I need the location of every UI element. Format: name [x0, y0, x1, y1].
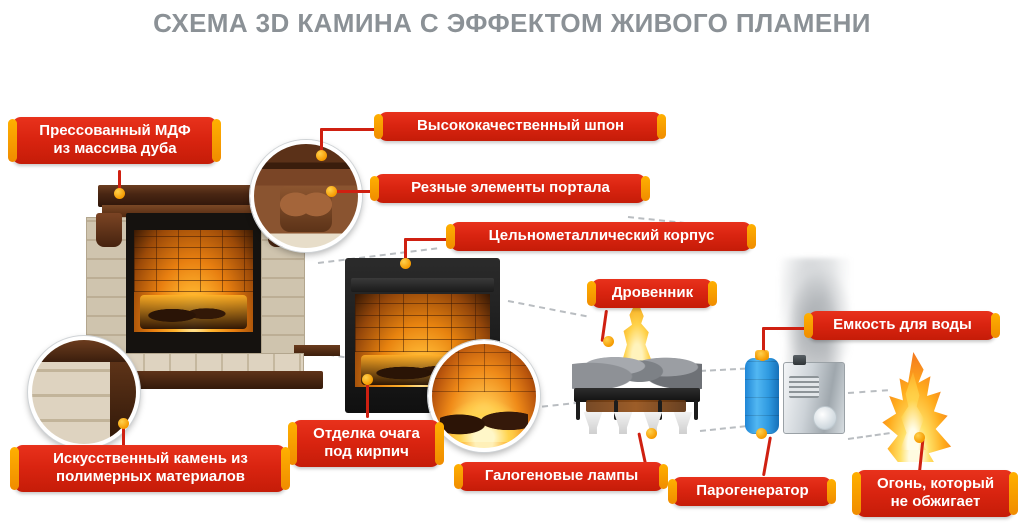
- connector-dot: [114, 188, 125, 199]
- connector-brick: [366, 380, 369, 418]
- label-stone[interactable]: Искусственный камень из полимерных матер…: [14, 445, 286, 492]
- connector-dot: [603, 336, 614, 347]
- generator-badge: [813, 406, 837, 430]
- dashed-guide: [848, 432, 890, 440]
- connector-dot: [362, 374, 373, 385]
- callout-brick-flame: [428, 340, 540, 452]
- label-log-holder[interactable]: Дровенник: [591, 279, 713, 308]
- generator-grill: [789, 376, 819, 398]
- water-tank: [745, 358, 779, 434]
- log-basket: [572, 300, 702, 435]
- connector-dot: [326, 186, 337, 197]
- connector-veneer: [320, 128, 380, 131]
- label-water-tank[interactable]: Емкость для воды: [808, 311, 996, 340]
- connector-steamgen: [762, 436, 772, 476]
- steam-generator: [783, 362, 845, 434]
- label-cold-fire[interactable]: Огонь, который не обжигает: [856, 470, 1014, 517]
- connector-halogen: [637, 432, 647, 464]
- label-brick-finish[interactable]: Отделка очага под кирпич: [292, 420, 440, 467]
- firebox-glass: [134, 230, 253, 332]
- infographic-canvas: СХЕМА 3D КАМИНА С ЭФФЕКТОМ ЖИВОГО ПЛАМЕН…: [0, 0, 1024, 532]
- connector-dot: [757, 350, 768, 361]
- page-title: СХЕМА 3D КАМИНА С ЭФФЕКТОМ ЖИВОГО ПЛАМЕН…: [0, 8, 1024, 39]
- brick-back-wall: [134, 230, 253, 292]
- brick-texture: [432, 344, 536, 392]
- label-veneer[interactable]: Высококачественный шпон: [378, 112, 662, 141]
- burning-logs: [140, 295, 247, 329]
- halogen-lamp-icon: [612, 412, 634, 434]
- label-halogen[interactable]: Галогеновые лампы: [458, 462, 664, 491]
- label-steam-gen[interactable]: Парогенератор: [672, 477, 832, 506]
- connector-dot: [316, 150, 327, 161]
- connector-metal-h: [404, 238, 452, 241]
- firebox-insert: [126, 213, 261, 363]
- flame-log-detail: [440, 398, 528, 442]
- connector-dot: [756, 428, 767, 439]
- connector-dot: [646, 428, 657, 439]
- label-carved[interactable]: Резные элементы портала: [374, 174, 646, 203]
- label-mdf[interactable]: Прессованный МДФ из массива дуба: [12, 117, 217, 164]
- carved-corbel-left: [96, 213, 122, 247]
- stone-top-trim: [32, 340, 136, 362]
- insert-top-bar: [351, 278, 494, 292]
- halogen-lamp-icon: [582, 412, 604, 434]
- dashed-guide: [848, 389, 888, 394]
- decorative-logs: [572, 340, 702, 392]
- halogen-lamp-icon: [672, 412, 694, 434]
- connector-dot: [400, 258, 411, 269]
- callout-carved-wood: [250, 140, 362, 252]
- connector-dot: [914, 432, 925, 443]
- generator-outlet: [793, 355, 806, 365]
- tank-body: [745, 358, 779, 434]
- connector-dot: [118, 418, 129, 429]
- carved-ornament-detail: [280, 186, 332, 232]
- label-metal-body[interactable]: Цельнометаллический корпус: [450, 222, 752, 251]
